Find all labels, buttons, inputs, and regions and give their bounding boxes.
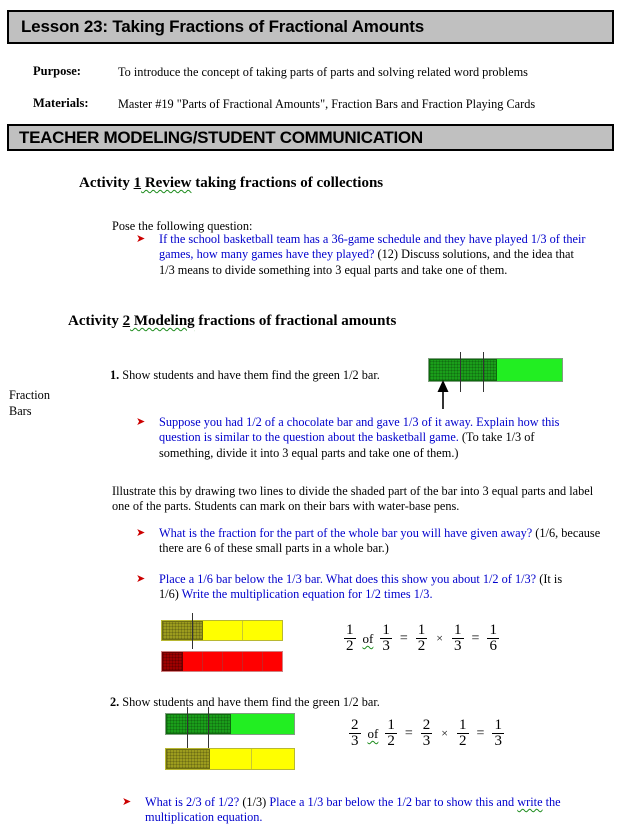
activity-2-prefix: Activity (68, 313, 123, 329)
numerator: 2 (421, 718, 433, 733)
equation-half-of-third: 1 2 of 1 3 = 1 2 × 1 3 = 1 6 (340, 623, 503, 655)
bar-segment-unshaded (210, 749, 253, 769)
bar-segment-unshaded (243, 621, 282, 640)
denominator: 3 (380, 638, 392, 654)
operator-times: × (441, 726, 448, 741)
lesson-title: Lesson 23: Taking Fractions of Fractiona… (21, 17, 424, 37)
fraction-3: 1 2 (416, 623, 428, 655)
arrow-bullet-icon: ➤ (136, 526, 145, 541)
fraction-bar-third-yellow-second (165, 748, 295, 770)
purpose-text: To introduce the concept of taking parts… (118, 65, 608, 80)
operator-of: of (363, 631, 374, 647)
bullet-last-black: (1/3) (239, 795, 266, 809)
denominator: 3 (492, 733, 504, 749)
fraction-3: 2 3 (421, 718, 433, 750)
bullet-place-blue-b: Write the multiplication equation for 1/… (179, 587, 433, 601)
operator-equals-1: = (405, 726, 413, 742)
activity-2-heading: Activity 2 Modeling fractions of fractio… (68, 313, 396, 330)
operator-times: × (436, 631, 443, 646)
lesson-title-banner: Lesson 23: Taking Fractions of Fractiona… (7, 10, 614, 44)
bullet-last-write-word: write (517, 795, 542, 809)
bar-segment-unshaded (203, 652, 223, 671)
fraction-2: 1 3 (380, 623, 392, 655)
fraction-bar-sixth-red (161, 651, 283, 672)
purpose-label: Purpose: (33, 64, 81, 79)
division-line-5 (208, 707, 209, 751)
activity-2-tail: fractions of fractional amounts (195, 313, 397, 329)
bar-segment-unshaded (231, 714, 294, 734)
bullet-basketball: ➤ If the school basketball team has a 36… (136, 232, 588, 278)
fraction-2: 1 2 (385, 718, 397, 750)
equation-twothirds-of-half: 2 3 of 1 2 = 2 3 × 1 2 = 1 3 (345, 718, 508, 750)
operator-of: of (368, 726, 379, 742)
bar-segment-unshaded (203, 621, 243, 640)
pointer-arrow-icon (432, 380, 454, 410)
bar-segment-shaded (429, 359, 497, 381)
bullet-last-text: What is 2/3 of 1/2? (1/3) Place a 1/3 ba… (145, 795, 592, 826)
materials-text: Master #19 "Parts of Fractional Amounts"… (118, 97, 613, 112)
bar-segment-unshaded (223, 652, 243, 671)
section-banner: TEACHER MODELING/STUDENT COMMUNICATION (7, 124, 614, 151)
numerator: 1 (380, 623, 392, 638)
bar-segment-shaded (166, 714, 231, 734)
division-line-4 (187, 707, 188, 751)
fraction-bar-third-yellow (161, 620, 283, 641)
side-label-line-1: Fraction (9, 388, 50, 404)
arrow-bullet-icon: ➤ (122, 795, 131, 810)
bar-segment-shaded (166, 749, 210, 769)
activity-1-review-word: Review (141, 175, 191, 191)
side-label-line-2: Bars (9, 404, 50, 420)
activity-1-heading: Activity 1 Review taking fractions of co… (79, 175, 383, 192)
bullet-place-sixth-bar: ➤ Place a 1/6 bar below the 1/3 bar. Wha… (136, 572, 576, 603)
activity-2-modeling-word: Modeling (130, 313, 195, 329)
denominator: 6 (487, 638, 499, 654)
side-label-fraction-bars: Fraction Bars (9, 388, 50, 419)
division-line-1 (460, 352, 461, 392)
numerator: 1 (452, 623, 464, 638)
bullet-place-blue-a: Place a 1/6 bar below the 1/3 bar. What … (159, 572, 536, 586)
bullet-chocolate-text: Suppose you had 1/2 of a chocolate bar a… (159, 415, 576, 461)
bar-segment-shaded (162, 652, 183, 671)
section-banner-title: TEACHER MODELING/STUDENT COMMUNICATION (19, 128, 423, 148)
bar-segment-unshaded (252, 749, 294, 769)
bullet-basketball-text: If the school basketball team has a 36-g… (159, 232, 588, 278)
denominator: 2 (416, 638, 428, 654)
fraction-bar-half-green-second (165, 713, 295, 735)
denominator: 3 (421, 733, 433, 749)
bar-segment-unshaded (263, 652, 282, 671)
step-2-label: Show students and have them find the gre… (119, 695, 380, 709)
numerator: 1 (487, 623, 499, 638)
fraction-5: 1 3 (492, 718, 504, 750)
operator-equals-2: = (472, 631, 480, 647)
bullet-sixth-text: What is the fraction for the part of the… (159, 526, 604, 557)
fraction-1: 1 2 (344, 623, 356, 655)
arrow-bullet-icon: ➤ (136, 572, 145, 587)
numerator: 1 (457, 718, 469, 733)
denominator: 2 (344, 638, 356, 654)
bullet-place-text: Place a 1/6 bar below the 1/3 bar. What … (159, 572, 576, 603)
denominator: 3 (452, 638, 464, 654)
fraction-4: 1 3 (452, 623, 464, 655)
bullet-chocolate: ➤ Suppose you had 1/2 of a chocolate bar… (136, 415, 576, 461)
bar-segment-shaded (162, 621, 203, 640)
bullet-sixth-blue: What is the fraction for the part of the… (159, 526, 532, 540)
activity-1-number: 1 (134, 175, 142, 191)
step-2-text: 2. Show students and have them find the … (110, 695, 440, 710)
bar-segment-unshaded (183, 652, 203, 671)
fraction-5: 1 6 (487, 623, 499, 655)
activity-2-number: 2 (123, 313, 131, 329)
activity-1-tail: taking fractions of collections (191, 175, 383, 191)
fraction-4: 1 2 (457, 718, 469, 750)
division-line-3 (192, 613, 193, 649)
materials-label: Materials: (33, 96, 89, 111)
illustrate-paragraph: Illustrate this by drawing two lines to … (112, 484, 599, 514)
bullet-last-question: ➤ What is 2/3 of 1/2? (1/3) Place a 1/3 … (122, 795, 592, 826)
numerator: 1 (492, 718, 504, 733)
bullet-sixth-question: ➤ What is the fraction for the part of t… (136, 526, 604, 557)
denominator: 2 (385, 733, 397, 749)
step-1-text: 1. Show students and have them find the … (110, 368, 420, 383)
bullet-last-blue-a: What is 2/3 of 1/2? (145, 795, 239, 809)
division-line-2 (483, 352, 484, 392)
bar-segment-unshaded (243, 652, 263, 671)
arrow-bullet-icon: ➤ (136, 232, 145, 247)
numerator: 1 (416, 623, 428, 638)
numerator: 1 (344, 623, 356, 638)
step-2-number: 2. (110, 695, 119, 709)
activity-1-prefix: Activity (79, 175, 134, 191)
bullet-last-blue-b: Place a 1/3 bar below the 1/2 bar to sho… (266, 795, 517, 809)
numerator: 1 (385, 718, 397, 733)
operator-equals-2: = (477, 726, 485, 742)
denominator: 3 (349, 733, 361, 749)
arrow-bullet-icon: ➤ (136, 415, 145, 430)
bar-segment-unshaded (497, 359, 563, 381)
fraction-bar-half-green-top (428, 358, 563, 382)
denominator: 2 (457, 733, 469, 749)
step-1-label: Show students and have them find the gre… (119, 368, 380, 382)
operator-equals-1: = (400, 631, 408, 647)
numerator: 2 (349, 718, 361, 733)
step-1-number: 1. (110, 368, 119, 382)
fraction-1: 2 3 (349, 718, 361, 750)
